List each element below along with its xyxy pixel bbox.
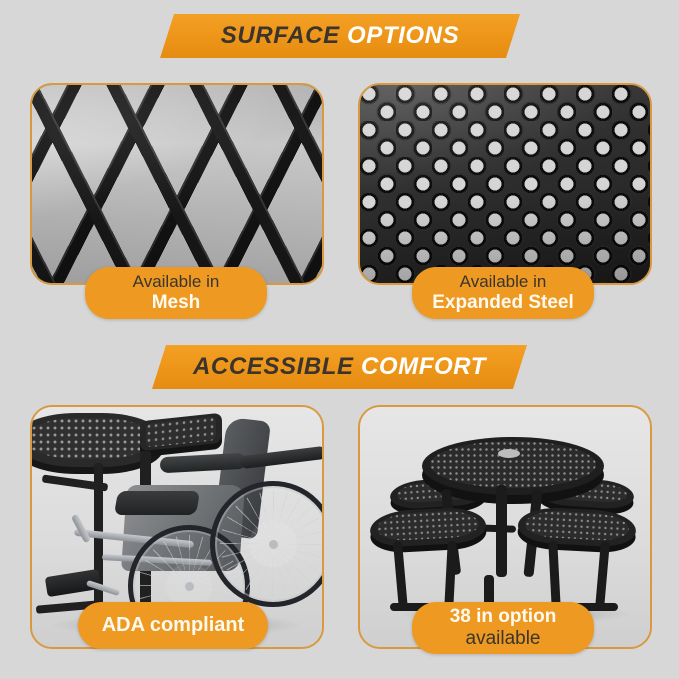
caption-mesh-line2: Mesh	[152, 292, 201, 314]
caption-pill-mesh[interactable]: Available in Mesh	[85, 267, 267, 319]
expanded-steel-surface-panel[interactable]	[358, 83, 652, 285]
bench-seat-near-left	[369, 506, 487, 548]
caption-ada-line1: ADA compliant	[102, 614, 245, 637]
bench-leg-3	[548, 541, 561, 609]
banner-accessible-comfort: ACCESSIBLE COMFORT	[152, 345, 527, 389]
bench-leg-1	[393, 541, 408, 612]
banner-surface-options-text: SURFACE OPTIONS	[221, 24, 459, 48]
diamond-mesh-icon	[32, 85, 322, 283]
caption-table-line2: available	[466, 628, 541, 650]
caption-table-line1: 38 in option	[450, 606, 557, 628]
caption-pill-38-in-option[interactable]: 38 in option available	[412, 602, 594, 654]
wheelchair-frame-bar-front	[71, 514, 91, 544]
mesh-surface-panel[interactable]	[30, 83, 324, 285]
banner-surface-word-dark: SURFACE	[221, 22, 340, 49]
bench-leg-2	[444, 541, 457, 609]
bench-leg-4	[595, 541, 610, 610]
banner-comfort-word-dark: ACCESSIBLE	[193, 353, 354, 380]
caption-mesh-line1: Available in	[133, 272, 220, 291]
banner-comfort-word-light: COMFORT	[361, 353, 486, 380]
wheelchair-rear-wheel-far	[210, 481, 324, 607]
caption-steel-line2: Expanded Steel	[432, 292, 574, 314]
caption-pill-expanded-steel[interactable]: Available in Expanded Steel	[412, 267, 594, 319]
caption-steel-line1: Available in	[460, 272, 547, 291]
banner-accessible-comfort-text: ACCESSIBLE COMFORT	[193, 355, 486, 379]
perforated-holes-icon	[360, 85, 650, 283]
wheel-hub	[269, 540, 278, 549]
perf-shading-overlay	[360, 85, 650, 283]
caption-pill-ada-compliant[interactable]: ADA compliant	[78, 602, 268, 649]
wheelchair-seat-cushion	[114, 491, 200, 515]
wheel-hub	[185, 582, 194, 591]
banner-surface-word-light: OPTIONS	[347, 22, 459, 49]
umbrella-hole	[498, 449, 520, 458]
table-bench	[140, 413, 222, 452]
mesh-shading-overlay	[32, 85, 322, 283]
round-table-top	[422, 437, 604, 495]
banner-surface-options: SURFACE OPTIONS	[160, 14, 520, 58]
